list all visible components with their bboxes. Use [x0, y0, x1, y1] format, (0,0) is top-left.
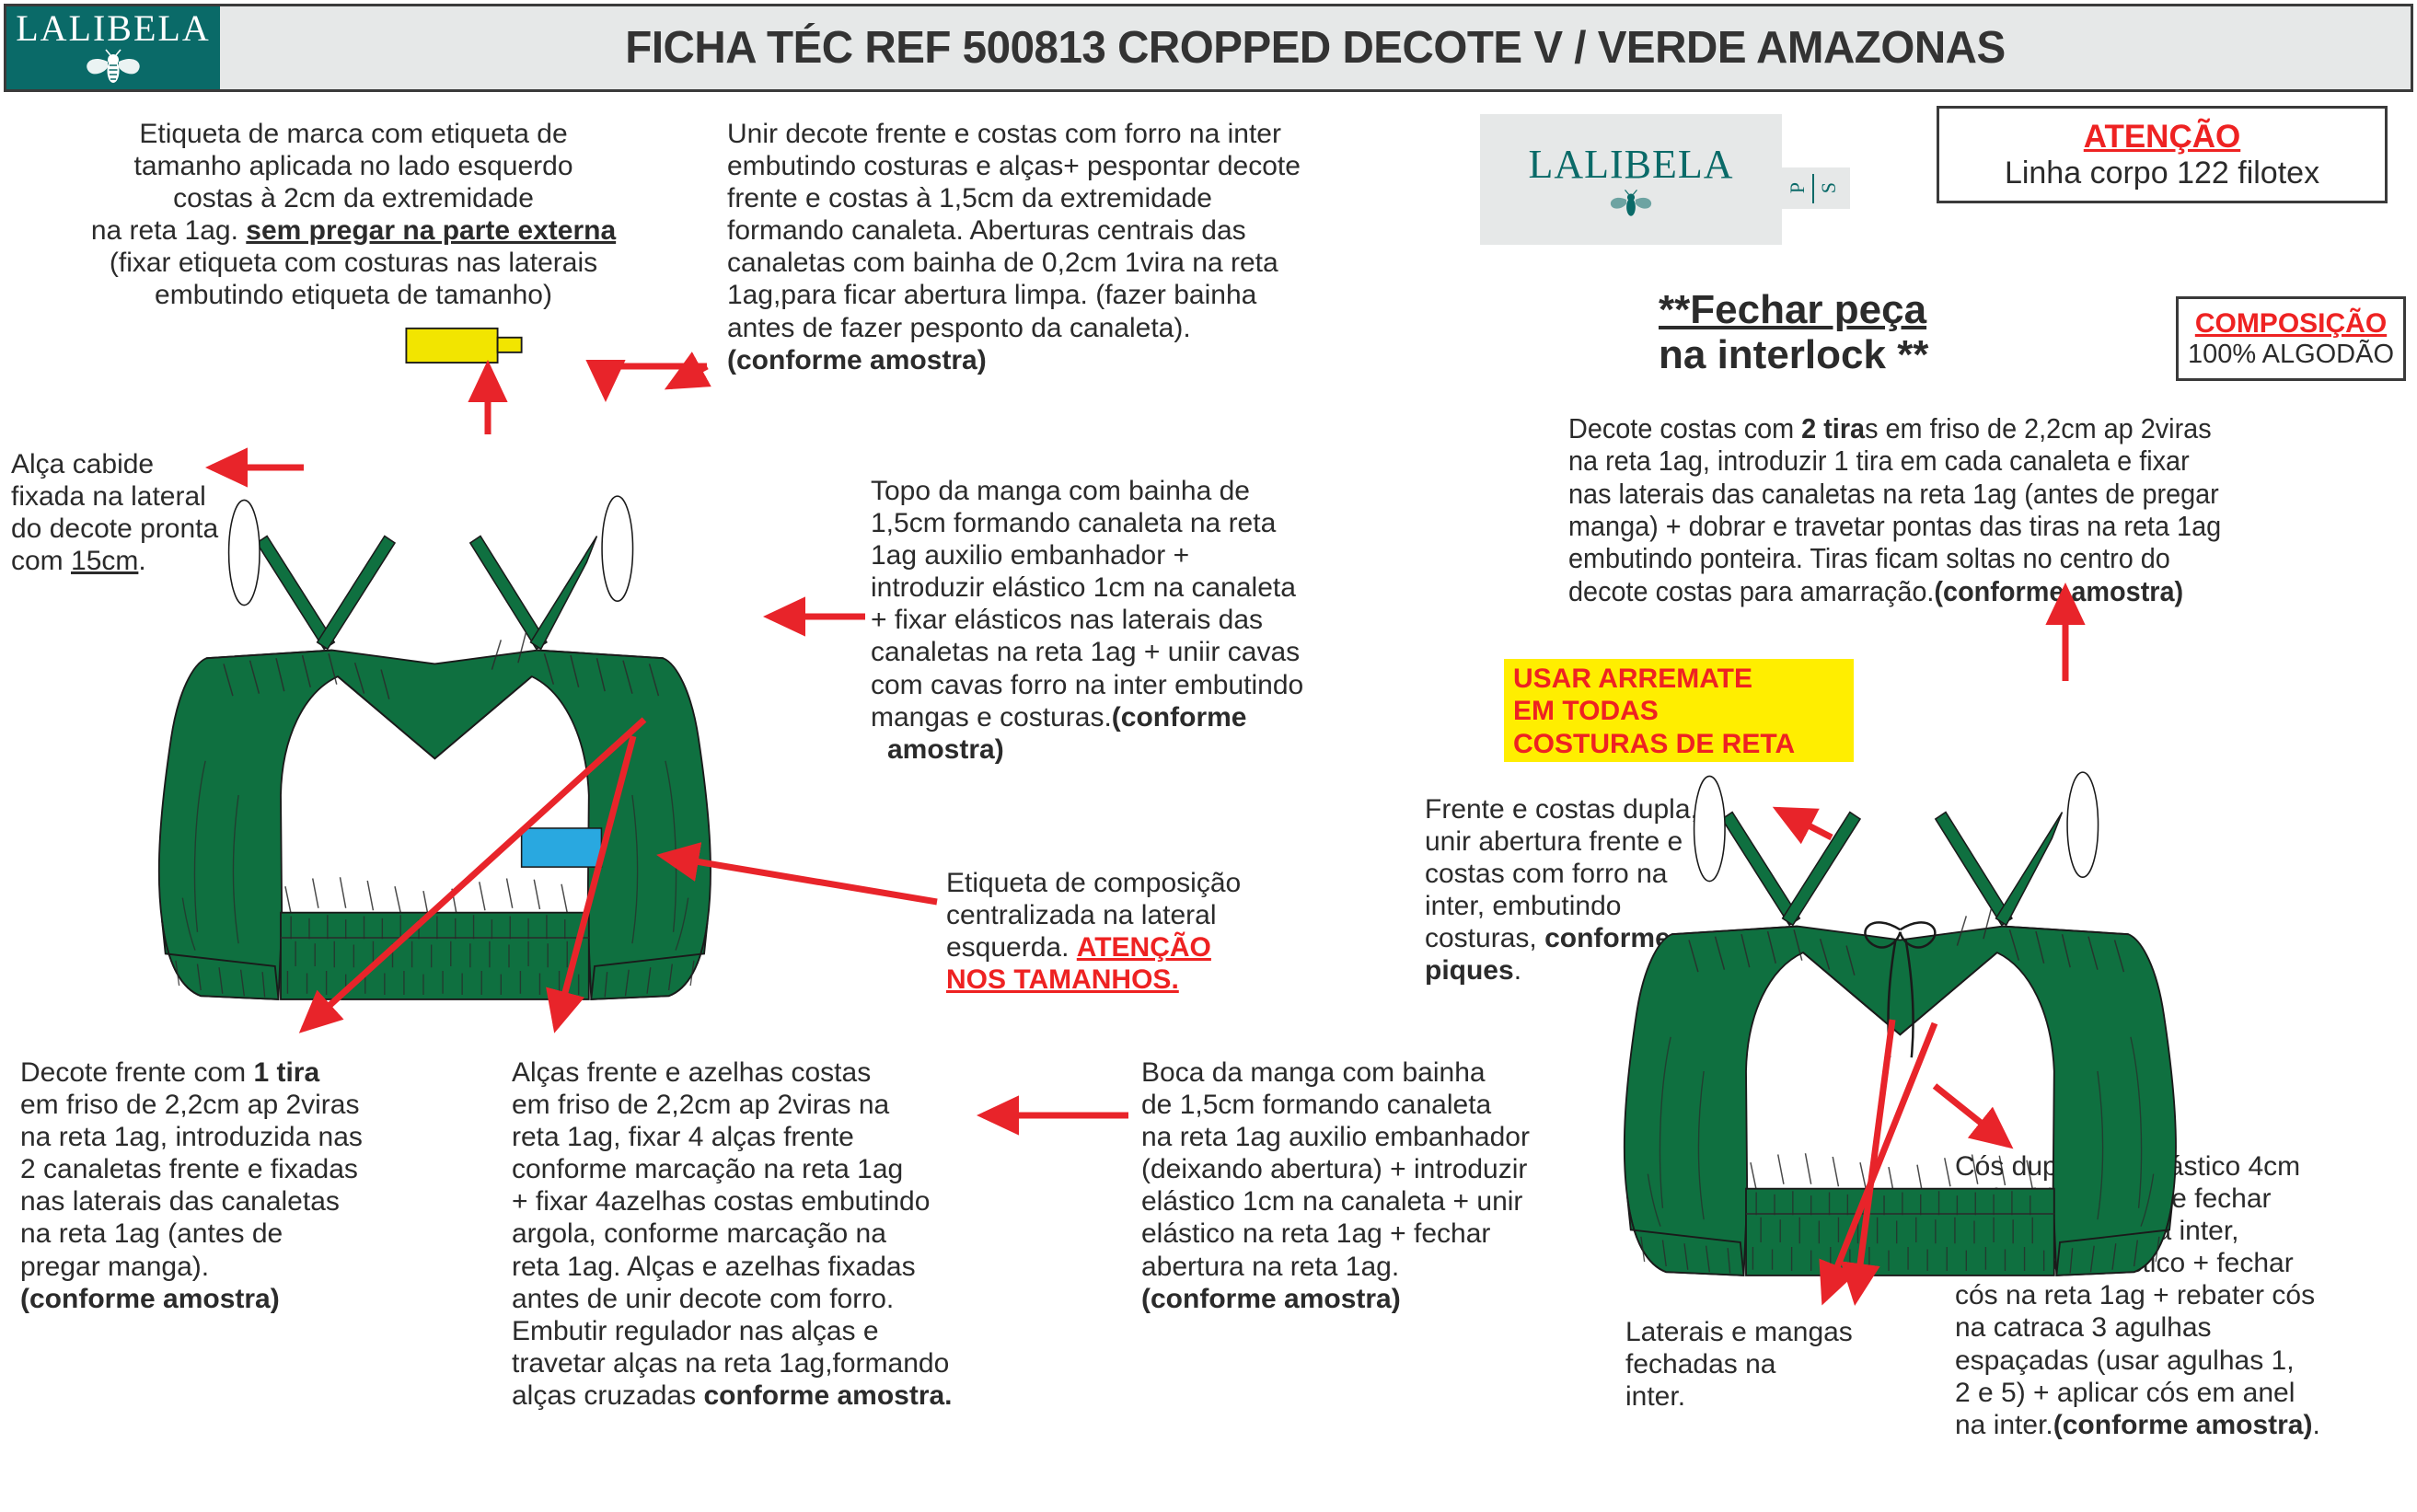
page-title: FICHA TÉC REF 500813 CROPPED DECOTE V / …	[253, 6, 2378, 89]
size-tag-right: S	[1817, 182, 1841, 193]
note-alca-cabide: Alça cabide fixada na lateral do decote …	[11, 448, 315, 577]
note-fechar-interlock: **Fechar peça na interlock **	[1659, 287, 2146, 378]
arremate-highlight: USAR ARREMATE EM TODAS COSTURAS DE RETA	[1504, 659, 1854, 762]
brand-logo: LALIBELA	[6, 6, 220, 89]
size-tag-left: P	[1786, 182, 1810, 193]
bee-icon-small	[1603, 188, 1659, 219]
atencao-body: Linha corpo 122 filotex	[2005, 156, 2319, 191]
atencao-title: ATENÇÃO	[2084, 119, 2240, 156]
note-frente-costas-dupla: Frente e costas dupla, unir abertura fre…	[1425, 793, 1793, 987]
swatch-wordmark: LALIBELA	[1528, 141, 1733, 188]
brand-label-swatch: LALIBELA	[1480, 114, 1782, 245]
note-unir-decote: Unir decote frente e costas com forro na…	[727, 118, 1482, 376]
note-etiqueta-composicao: Etiqueta de composição centralizada na l…	[946, 867, 1333, 996]
brand-wordmark: LALIBELA	[16, 10, 211, 47]
note-etiqueta-marca: Etiqueta de marca com etiqueta de tamanh…	[13, 118, 694, 312]
size-tag-divider	[1812, 174, 1814, 203]
note-alcas-azelhas: Alças frente e azelhas costas em friso d…	[512, 1056, 1101, 1412]
garment-front-view	[159, 329, 711, 999]
note-laterais-mangas: Laterais e mangas fechadas na inter.	[1625, 1316, 1929, 1413]
brand-label-tag-icon	[406, 329, 521, 363]
composicao-box: COMPOSIÇÃO 100% ALGODÃO	[2176, 296, 2406, 381]
atencao-box: ATENÇÃO Linha corpo 122 filotex	[1937, 106, 2388, 203]
note-topo-manga: Topo da manga com bainha de 1,5cm forman…	[871, 475, 1414, 766]
header-bar: LALIBELA FICHA TÉC REF 500813 CROPPED DE…	[4, 4, 2413, 92]
composition-label-icon	[522, 828, 602, 867]
note-boca-manga: Boca da manga com bainha de 1,5cm forman…	[1141, 1056, 1638, 1315]
composicao-body: 100% ALGODÃO	[2188, 340, 2394, 370]
size-tag: P S	[1776, 167, 1850, 209]
note-decote-frente: Decote frente com 1 tira em friso de 2,2…	[20, 1056, 480, 1315]
note-cos-duplo: Cós duplo com elástico 4cm embutido, dob…	[1955, 1150, 2415, 1441]
back-neck-tie-icon	[1865, 922, 1935, 1057]
tech-pack-sheet: LALIBELA FICHA TÉC REF 500813 CROPPED DE…	[0, 0, 2417, 1512]
note-decote-costas: Decote costas com 2 tiras em friso de 2,…	[1568, 412, 2390, 607]
composicao-title: COMPOSIÇÃO	[2195, 308, 2387, 340]
bee-icon	[79, 49, 147, 86]
